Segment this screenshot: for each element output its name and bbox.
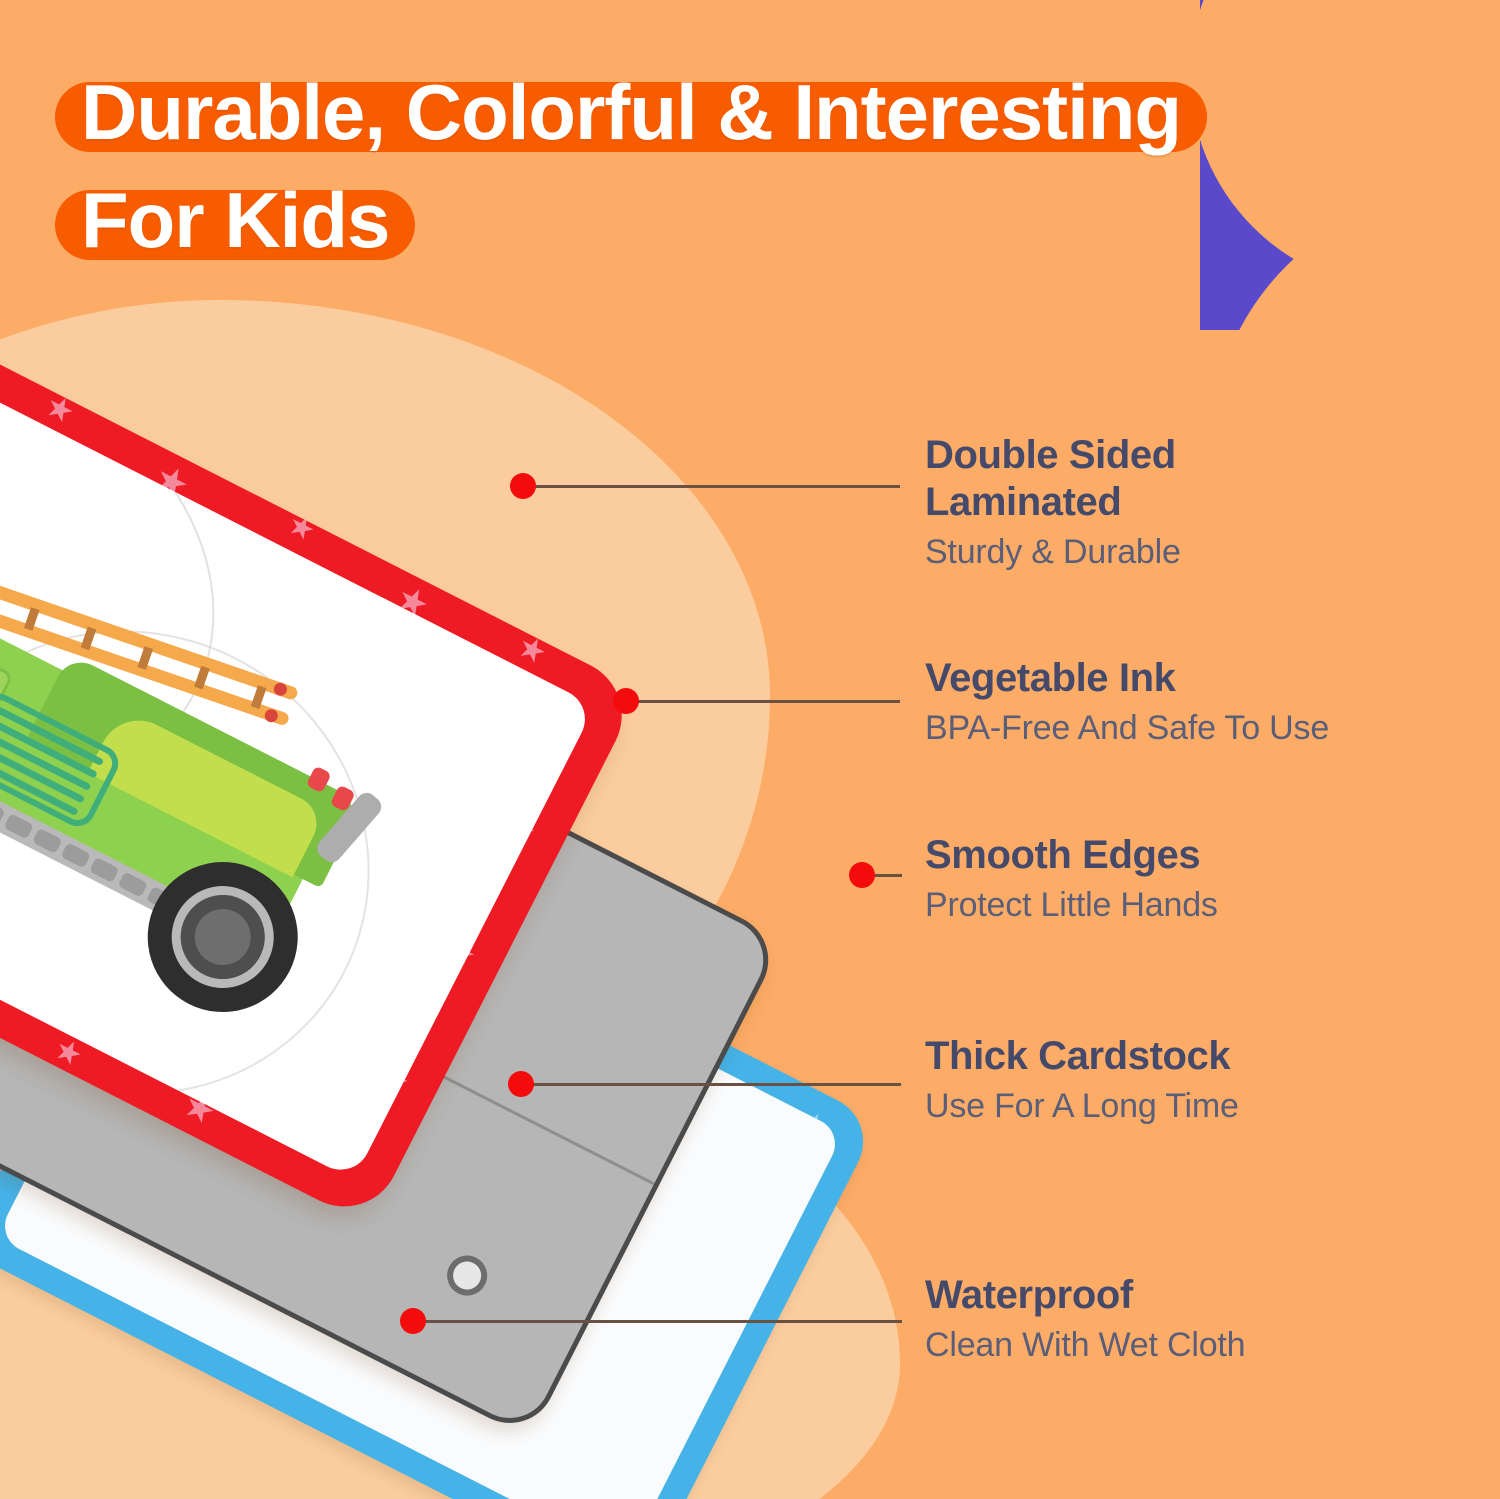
star-icon: ★ [512,629,552,671]
star-icon: ★ [283,509,321,548]
feature-item-vegetable-ink: Vegetable Ink BPA-Free And Safe To Use [925,655,1329,750]
headline-line-2: For Kids [55,170,415,274]
infographic-canvas: ★ ★ ★ ★ ★ ★ ★ ★ ★ ★ ★ ★ ★ ★ ★ ★ ★ [0,0,1500,1499]
feature-item-smooth-edges: Smooth Edges Protect Little Hands [925,832,1218,927]
connector-line-4 [523,1083,901,1086]
feature-item-double-sided-laminated: Double Sided Laminated Sturdy & Durable [925,432,1181,574]
connector-line-1 [525,485,900,488]
feature-subtitle: Sturdy & Durable [925,530,1181,574]
marker-dot-1 [510,473,536,499]
feature-title: Waterproof [925,1272,1245,1319]
connector-line-2 [628,700,900,703]
feature-item-thick-cardstock: Thick Cardstock Use For A Long Time [925,1033,1239,1128]
connector-line-5 [415,1320,902,1323]
feature-title: Smooth Edges [925,832,1218,879]
feature-title-second-line: Laminated [925,479,1181,526]
marker-dot-4 [508,1071,534,1097]
marker-dot-5 [400,1308,426,1334]
flashcard-stack-illustration: ★ ★ ★ ★ ★ ★ ★ ★ ★ ★ ★ ★ ★ ★ ★ ★ ★ [0,400,920,1499]
marker-dot-3 [849,862,875,888]
feature-title: Thick Cardstock [925,1033,1239,1080]
feature-subtitle: Use For A Long Time [925,1084,1239,1128]
feature-subtitle: BPA-Free And Safe To Use [925,706,1329,750]
feature-item-waterproof: Waterproof Clean With Wet Cloth [925,1272,1245,1367]
feature-subtitle: Clean With Wet Cloth [925,1323,1245,1367]
feature-subtitle: Protect Little Hands [925,883,1218,927]
feature-list: Double Sided Laminated Sturdy & Durable … [925,0,1485,1499]
marker-dot-2 [613,688,639,714]
feature-title: Double Sided [925,432,1181,479]
card-knob-icon [440,1249,494,1303]
feature-title: Vegetable Ink [925,655,1329,702]
